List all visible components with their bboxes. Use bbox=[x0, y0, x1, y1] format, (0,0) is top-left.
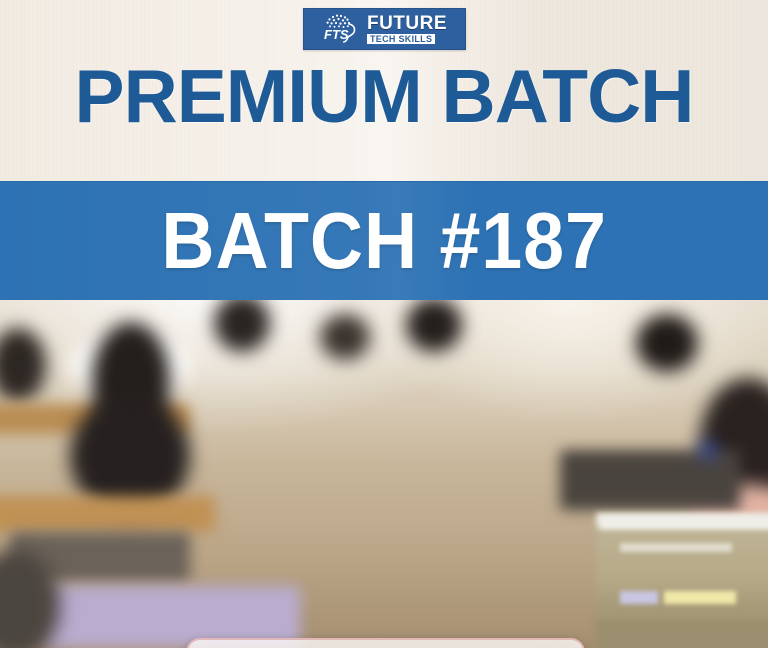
photo-monitor-footer bbox=[596, 620, 768, 648]
page-title: PREMIUM BATCH bbox=[75, 61, 694, 132]
photo-monitor-hero-text bbox=[620, 543, 732, 552]
classroom-photo-background: 11:00 AM To 1:00 PM bbox=[0, 300, 768, 648]
batch-number-text: BATCH #187 bbox=[161, 201, 606, 281]
photo-monitor-button bbox=[620, 591, 658, 604]
photo-desk bbox=[560, 450, 740, 510]
header-section: FTS FUTURE TECH SKILLS PREMIUM BATCH bbox=[0, 0, 768, 181]
brand-logo: FTS FUTURE TECH SKILLS bbox=[303, 8, 466, 50]
batch-details-card: 11:00 AM To 1:00 PM bbox=[186, 638, 585, 648]
photo-monitor-button bbox=[664, 591, 736, 604]
brand-name-primary: FUTURE bbox=[367, 14, 447, 33]
brand-wordmark: FUTURE TECH SKILLS bbox=[367, 14, 447, 44]
batch-banner: BATCH #187 bbox=[0, 181, 768, 300]
photo-silhouette bbox=[700, 442, 716, 458]
photo-silhouette bbox=[320, 314, 370, 360]
brain-network-icon: FTS bbox=[319, 12, 363, 46]
photo-silhouette bbox=[406, 300, 462, 352]
brand-name-secondary: TECH SKILLS bbox=[367, 34, 435, 44]
svg-text:FTS: FTS bbox=[324, 27, 349, 42]
photo-monitor-navbar bbox=[600, 516, 768, 529]
photo-desk bbox=[0, 496, 215, 532]
photo-silhouette bbox=[636, 314, 698, 372]
premium-batch-poster: FTS FUTURE TECH SKILLS PREMIUM BATCH BAT… bbox=[0, 0, 768, 648]
